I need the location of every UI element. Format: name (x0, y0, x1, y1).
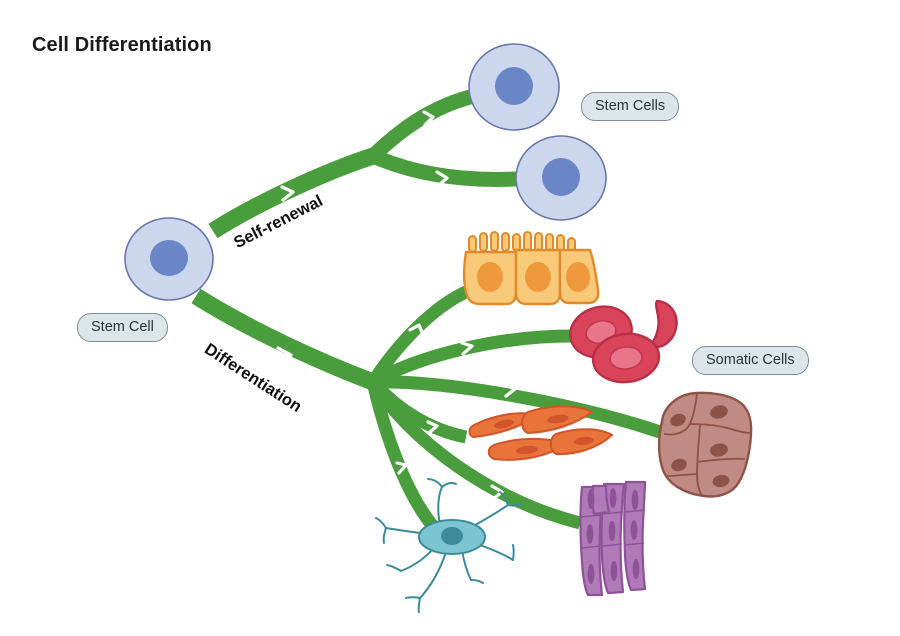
arrow-self-renewal-upper (373, 97, 470, 156)
label-stem-cell: Stem Cell (77, 313, 168, 342)
neuron-nucleus (441, 527, 463, 545)
stem-cell-source (125, 218, 213, 300)
epithelial-nucleus (525, 262, 551, 292)
epithelial-cells (464, 232, 598, 304)
diagram-canvas: Cell Differentiation Stem Cell Stem Cell… (0, 0, 900, 636)
label-stem-cells: Stem Cells (581, 92, 679, 121)
label-somatic-cells: Somatic Cells (692, 346, 809, 375)
stem-cell-nucleus (495, 67, 533, 105)
red-blood-cells (565, 300, 677, 385)
skeletal-muscle-cells (580, 482, 645, 595)
page-title: Cell Differentiation (32, 34, 212, 57)
epithelial-nucleus (477, 262, 503, 292)
stem-cell-daughter-bottom (516, 136, 606, 220)
skeletal-muscle-fiber (592, 486, 609, 514)
epithelial-nucleus (566, 262, 590, 292)
liver-cell-cluster-outline (659, 393, 751, 497)
liver-cells (659, 393, 751, 497)
stem-cell-nucleus (542, 158, 580, 196)
red-blood-cell-side (650, 301, 677, 347)
stem-cell-nucleus (150, 240, 188, 276)
stem-cell-daughter-top (469, 44, 559, 130)
